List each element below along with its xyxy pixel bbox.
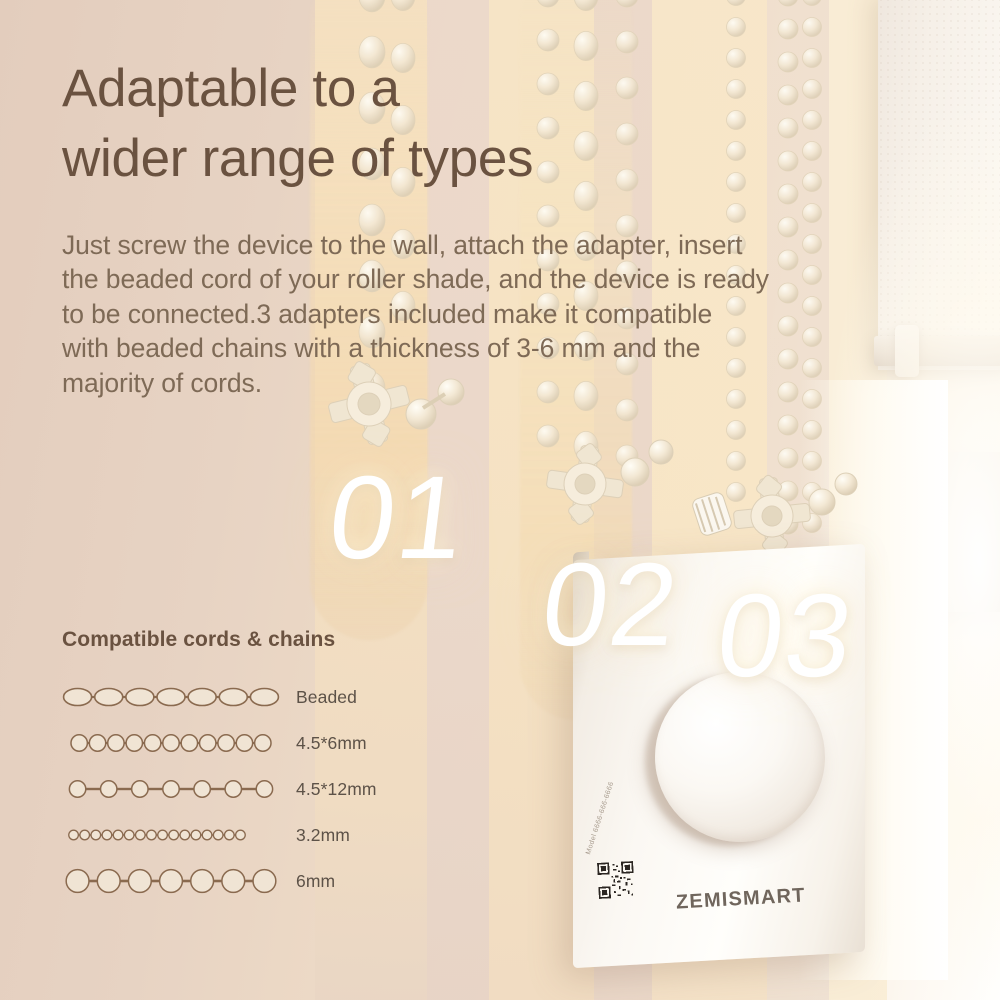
- chain-round-spaced-icon: [62, 774, 280, 804]
- body-line-1: Just screw the device to the wall, attac…: [62, 228, 924, 262]
- compat-row-label: 4.5*6mm: [280, 733, 367, 754]
- compat-row-label: 3.2mm: [280, 825, 350, 846]
- step-number-02: 02: [536, 546, 686, 664]
- chain-round-tight-icon: [62, 728, 280, 758]
- headline-line-1: Adaptable to a: [62, 54, 762, 124]
- compat-row: 6mm: [62, 858, 462, 904]
- headline-line-2: wider range of types: [62, 124, 762, 194]
- body-line-5: majority of cords.: [62, 366, 924, 400]
- body-line-2: the beaded cord of your roller shade, an…: [62, 262, 924, 296]
- description-text: Just screw the device to the wall, attac…: [62, 228, 924, 400]
- chain-oval-beaded-icon: [62, 682, 280, 712]
- page-title: Adaptable to a wider range of types: [62, 54, 762, 194]
- step-number-01: 01: [323, 459, 473, 577]
- compat-row-label: 6mm: [280, 871, 335, 892]
- compat-section-title: Compatible cords & chains: [62, 628, 462, 652]
- product-banner: Model 6666-666-6666 ZEMISMART Adaptable …: [0, 0, 1000, 1000]
- chain-micro-beads-icon: [62, 820, 280, 850]
- compatible-cords-section: Compatible cords & chains Beaded4.5*6mm4…: [62, 628, 462, 904]
- compat-row-label: Beaded: [280, 687, 357, 708]
- body-line-4: with beaded chains with a thickness of 3…: [62, 331, 924, 365]
- compat-row: 3.2mm: [62, 812, 462, 858]
- compat-row: Beaded: [62, 674, 462, 720]
- step-number-03: 03: [711, 577, 861, 695]
- compat-row: 4.5*12mm: [62, 766, 462, 812]
- body-line-3: to be connected.3 adapters included make…: [62, 297, 924, 331]
- compat-row: 4.5*6mm: [62, 720, 462, 766]
- compat-row-label: 4.5*12mm: [280, 779, 377, 800]
- chain-large-beads-icon: [62, 866, 280, 896]
